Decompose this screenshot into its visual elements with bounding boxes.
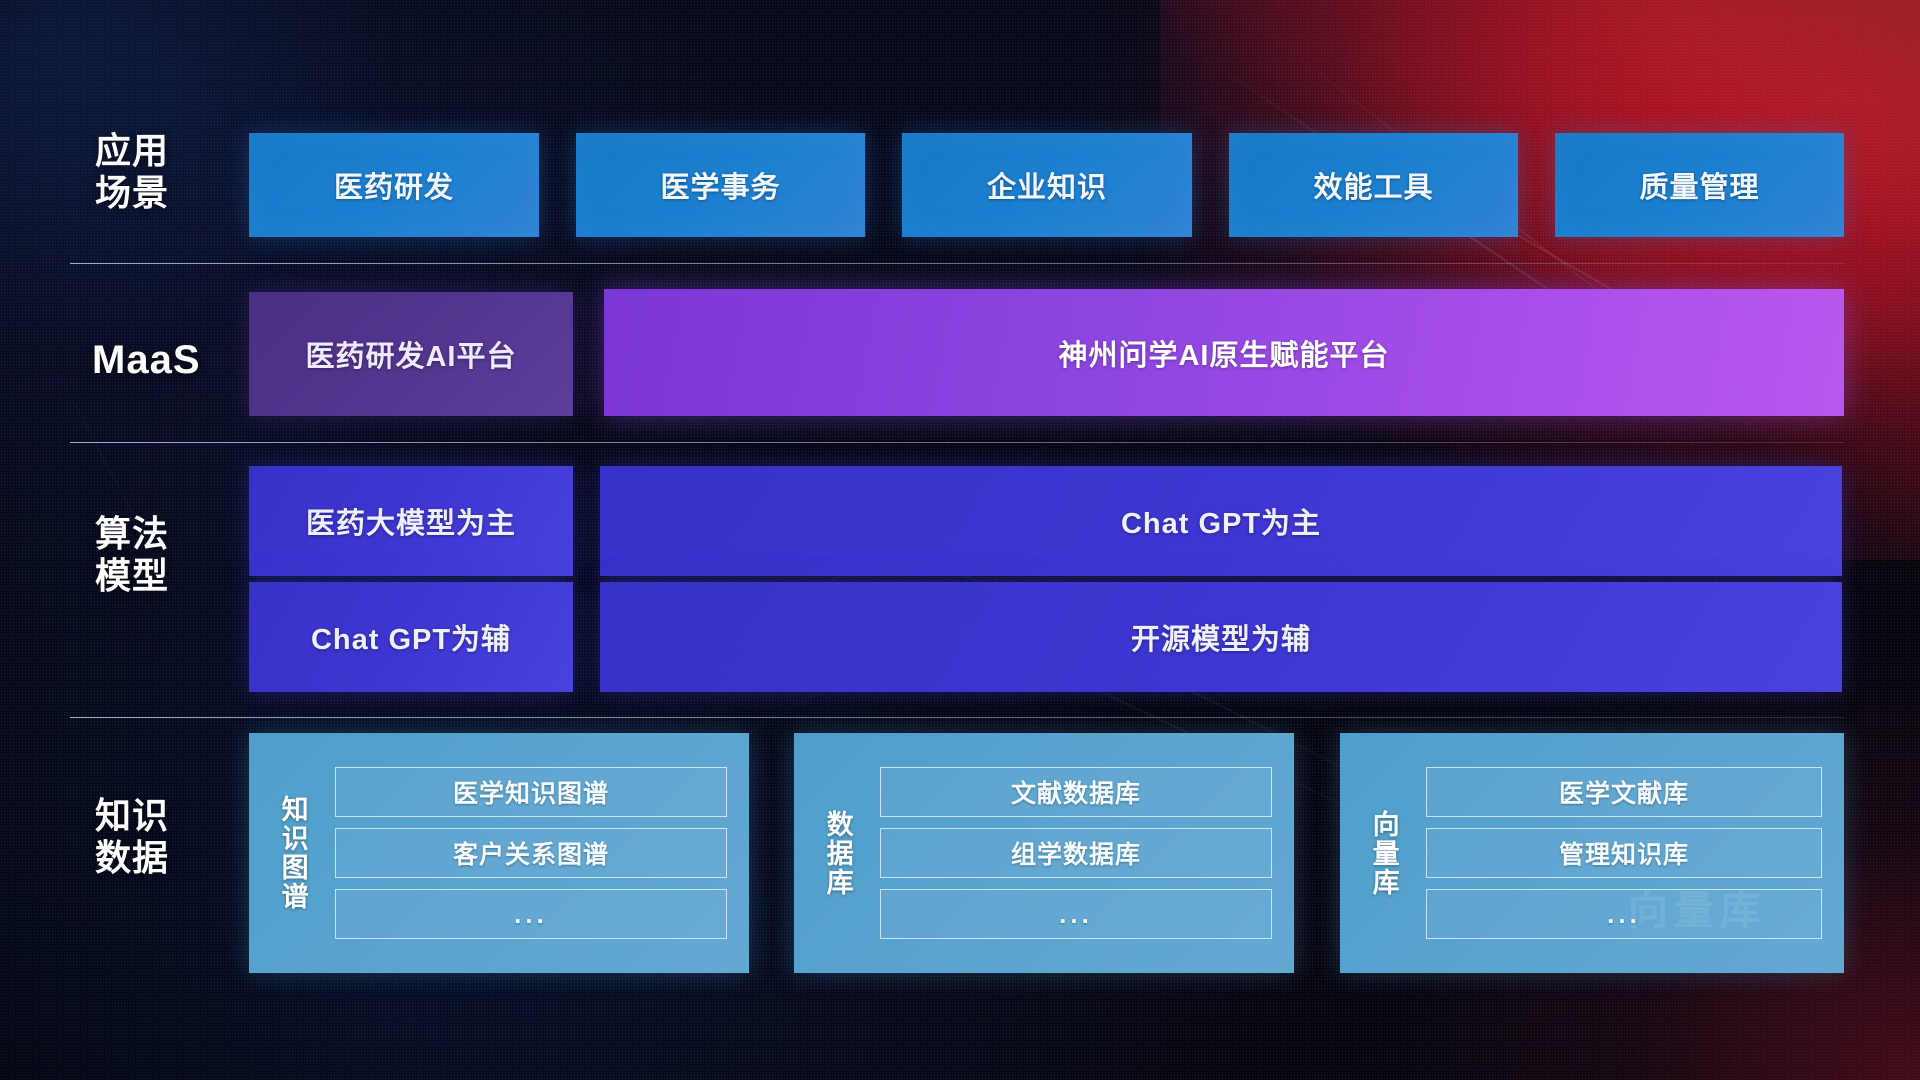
app-scenario-box-5[interactable]: 质量管理: [1555, 133, 1844, 237]
algorithm-box-row1-left[interactable]: 医药大模型为主: [249, 466, 573, 576]
maas-platform-box-right[interactable]: 神州问学AI原生赋能平台: [604, 289, 1844, 416]
knowledge-item-more[interactable]: ...: [1426, 889, 1822, 939]
app-scenario-box-3[interactable]: 企业知识: [902, 133, 1192, 237]
knowledge-group-items: 医学文献库 管理知识库 ...: [1426, 733, 1844, 973]
divider-after-algorithm-model: [70, 717, 1845, 718]
layer-label-line: 模型: [95, 555, 245, 597]
divider-after-application-scenarios: [70, 263, 1845, 264]
maas-platform-box-left[interactable]: 医药研发AI平台: [249, 292, 573, 416]
knowledge-item-more[interactable]: ...: [335, 889, 727, 939]
knowledge-group-items: 文献数据库 组学数据库 ...: [880, 733, 1294, 973]
algorithm-box-row2-left[interactable]: Chat GPT为辅: [249, 582, 573, 692]
layer-label-line: 应用: [95, 130, 245, 172]
layer-label-knowledge-data: 知识 数据: [95, 795, 255, 880]
knowledge-group-items: 医学知识图谱 客户关系图谱 ...: [335, 733, 749, 973]
knowledge-group-label: 数据库: [794, 733, 880, 973]
algorithm-box-row2-right[interactable]: 开源模型为辅: [600, 582, 1842, 692]
layer-label-algorithm-model: 算法 模型: [95, 513, 245, 598]
knowledge-group-vector-store[interactable]: 向量库 医学文献库 管理知识库 ...: [1340, 733, 1844, 973]
knowledge-item-more[interactable]: ...: [880, 889, 1272, 939]
layer-label-line: 算法: [95, 513, 245, 555]
app-scenario-box-2[interactable]: 医学事务: [576, 133, 865, 237]
knowledge-item[interactable]: 文献数据库: [880, 767, 1272, 817]
knowledge-item[interactable]: 客户关系图谱: [335, 828, 727, 878]
app-scenario-box-1[interactable]: 医药研发: [249, 133, 539, 237]
knowledge-item[interactable]: 医学知识图谱: [335, 767, 727, 817]
algorithm-box-row1-right[interactable]: Chat GPT为主: [600, 466, 1842, 576]
divider-after-maas: [70, 442, 1845, 443]
layer-label-application-scenarios: 应用 场景: [95, 130, 245, 215]
app-scenario-box-4[interactable]: 效能工具: [1229, 133, 1518, 237]
knowledge-item[interactable]: 组学数据库: [880, 828, 1272, 878]
knowledge-group-database[interactable]: 数据库 文献数据库 组学数据库 ...: [794, 733, 1294, 973]
knowledge-group-label: 向量库: [1340, 733, 1426, 973]
knowledge-group-knowledge-graph[interactable]: 知识图谱 医学知识图谱 客户关系图谱 ...: [249, 733, 749, 973]
architecture-diagram: 应用 场景 医药研发 医学事务 企业知识 效能工具 质量管理 MaaS 医药研发…: [0, 0, 1920, 1080]
layer-label-line: 数据: [95, 837, 255, 879]
layer-label-line: 场景: [95, 172, 245, 214]
knowledge-item[interactable]: 管理知识库: [1426, 828, 1822, 878]
knowledge-group-label: 知识图谱: [249, 733, 335, 973]
layer-label-line: 知识: [95, 795, 255, 837]
knowledge-item[interactable]: 医学文献库: [1426, 767, 1822, 817]
